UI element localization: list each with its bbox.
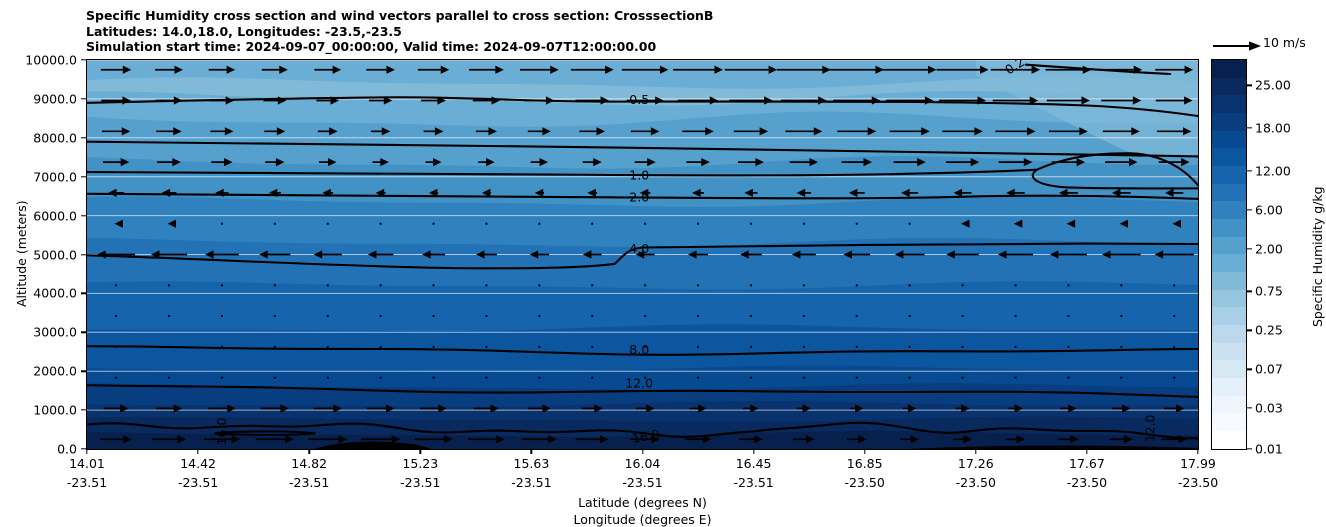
colorbar-band-13 [1212, 201, 1246, 219]
x-tick-label-lat-4: 15.63 [513, 456, 549, 471]
x-tick-label-lon-6: -23.51 [733, 475, 773, 490]
colorbar-band-14 [1212, 184, 1246, 202]
x-tick-mark-3 [420, 449, 421, 454]
colorbar-band-11 [1212, 237, 1246, 255]
x-tick-mark-10 [1197, 449, 1198, 454]
colorbar-tick-label-5: 2.00 [1255, 241, 1283, 256]
y-tick-label-3: 3000.0 [0, 325, 77, 340]
x-tick-label-lon-10: -23.50 [1178, 475, 1218, 490]
x-tick-mark-6 [753, 449, 754, 454]
x-tick-label-lat-6: 16.45 [736, 456, 772, 471]
colorbar-tick-label-6: 6.00 [1255, 202, 1283, 217]
colorbar-tick-label-8: 18.00 [1255, 121, 1291, 136]
x-tick-mark-9 [1086, 449, 1087, 454]
colorbar-tick-label-7: 12.00 [1255, 163, 1291, 178]
colorbar-band-19 [1212, 95, 1246, 113]
colorbar-tick-label-4: 0.75 [1255, 284, 1283, 299]
colorbar-band-6 [1212, 325, 1246, 343]
x-tick-mark-4 [531, 449, 532, 454]
y-axis-title: Altitude (meters) [14, 200, 29, 307]
y-tick-mark-3 [81, 332, 86, 333]
colorbar-tick-label-9: 25.00 [1255, 78, 1291, 93]
y-tick-mark-2 [81, 370, 86, 371]
x-tick-label-lat-10: 17.99 [1180, 456, 1216, 471]
colorbar-tick-mark-4 [1247, 291, 1252, 292]
colorbar-band-9 [1212, 272, 1246, 290]
y-tick-label-10: 10000.0 [0, 53, 77, 68]
colorbar-tick-label-3: 0.25 [1255, 323, 1283, 338]
x-tick-label-lon-7: -23.50 [845, 475, 885, 490]
y-tick-label-6: 6000.0 [0, 208, 77, 223]
x-tick-label-lon-4: -23.51 [511, 475, 551, 490]
x-tick-label-lat-5: 16.04 [625, 456, 661, 471]
x-tick-label-lat-8: 17.26 [958, 456, 994, 471]
y-tick-mark-0 [81, 448, 86, 449]
y-tick-label-5: 5000.0 [0, 247, 77, 262]
x-tick-label-lat-9: 17.67 [1069, 456, 1105, 471]
colorbar-band-20 [1212, 78, 1246, 96]
x-tick-mark-1 [197, 449, 198, 454]
colorbar-band-17 [1212, 131, 1246, 149]
colorbar-band-12 [1212, 219, 1246, 237]
colorbar-title: Specific Humidity g/kg [1310, 186, 1325, 327]
colorbar-tick-mark-1 [1247, 407, 1252, 408]
x-tick-mark-0 [86, 449, 87, 454]
colorbar-band-1 [1212, 413, 1246, 431]
colorbar-tick-mark-8 [1247, 127, 1252, 128]
colorbar-band-7 [1212, 307, 1246, 325]
x-axis-title-longitude: Longitude (degrees E) [573, 512, 711, 527]
colorbar-tick-mark-3 [1247, 330, 1252, 331]
colorbar-band-3 [1212, 378, 1246, 396]
x-tick-label-lat-3: 15.23 [402, 456, 438, 471]
colorbar-band-15 [1212, 166, 1246, 184]
figure-canvas: Specific Humidity cross section and wind… [0, 0, 1326, 526]
y-tick-mark-8 [81, 137, 86, 138]
y-tick-label-7: 7000.0 [0, 169, 77, 184]
colorbar-band-5 [1212, 343, 1246, 361]
x-tick-label-lon-5: -23.51 [622, 475, 662, 490]
x-tick-label-lon-1: -23.51 [178, 475, 218, 490]
x-tick-label-lat-7: 16.85 [847, 456, 883, 471]
colorbar-tick-mark-2 [1247, 369, 1252, 370]
colorbar [1211, 59, 1247, 450]
colorbar-band-16 [1212, 148, 1246, 166]
y-tick-mark-5 [81, 254, 86, 255]
colorbar-tick-mark-5 [1247, 248, 1252, 249]
colorbar-tick-mark-7 [1247, 170, 1252, 171]
y-tick-label-0: 0.0 [0, 442, 77, 457]
y-tick-mark-4 [81, 293, 86, 294]
colorbar-tick-label-0: 0.01 [1255, 442, 1283, 457]
x-tick-label-lon-2: -23.51 [289, 475, 329, 490]
y-tick-mark-10 [81, 59, 86, 60]
colorbar-band-4 [1212, 360, 1246, 378]
colorbar-tick-mark-6 [1247, 209, 1252, 210]
x-tick-mark-7 [864, 449, 865, 454]
x-tick-mark-2 [308, 449, 309, 454]
colorbar-tick-mark-0 [1247, 448, 1252, 449]
colorbar-band-10 [1212, 254, 1246, 272]
colorbar-band-0 [1212, 431, 1246, 449]
colorbar-tick-label-2: 0.07 [1255, 362, 1283, 377]
y-tick-mark-1 [81, 409, 86, 410]
x-tick-mark-8 [975, 449, 976, 454]
y-tick-mark-6 [81, 215, 86, 216]
x-tick-label-lat-2: 14.82 [291, 456, 327, 471]
colorbar-band-2 [1212, 396, 1246, 414]
x-tick-label-lon-0: -23.51 [67, 475, 107, 490]
colorbar-band-21 [1212, 60, 1246, 78]
x-tick-mark-5 [642, 449, 643, 454]
colorbar-band-8 [1212, 290, 1246, 308]
y-tick-label-8: 8000.0 [0, 130, 77, 145]
colorbar-band-18 [1212, 113, 1246, 131]
colorbar-tick-mark-9 [1247, 85, 1252, 86]
axis-layer: 0.01000.02000.03000.04000.05000.06000.07… [0, 0, 1326, 526]
x-axis-title-latitude: Latitude (degrees N) [578, 495, 707, 510]
colorbar-tick-label-1: 0.03 [1255, 401, 1283, 416]
y-tick-label-1: 1000.0 [0, 403, 77, 418]
x-tick-label-lon-9: -23.50 [1067, 475, 1107, 490]
y-tick-mark-9 [81, 98, 86, 99]
y-tick-label-9: 9000.0 [0, 91, 77, 106]
x-tick-label-lat-0: 14.01 [69, 456, 105, 471]
x-tick-label-lon-3: -23.51 [400, 475, 440, 490]
y-tick-label-2: 2000.0 [0, 364, 77, 379]
x-tick-label-lat-1: 14.42 [180, 456, 216, 471]
x-tick-label-lon-8: -23.50 [956, 475, 996, 490]
y-tick-mark-7 [81, 176, 86, 177]
y-tick-label-4: 4000.0 [0, 286, 77, 301]
